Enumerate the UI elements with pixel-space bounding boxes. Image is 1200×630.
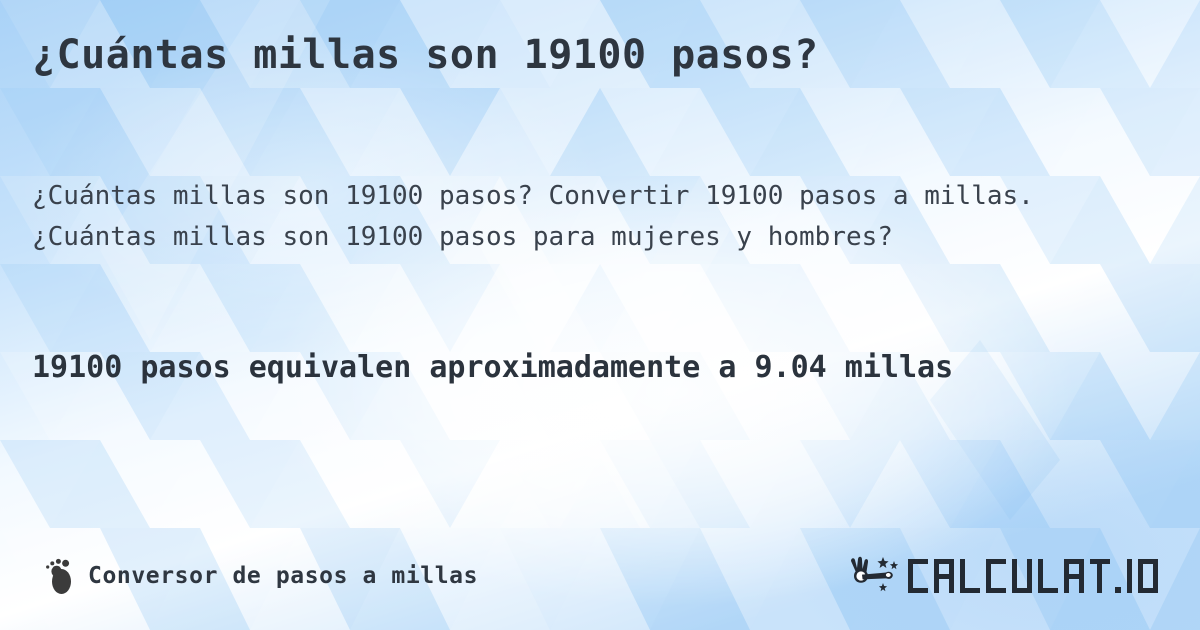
footprint-icon [44, 556, 74, 596]
brand-wordmark [906, 557, 1164, 595]
conversion-result: 19100 pasos equivalen aproximadamente a … [32, 345, 1107, 390]
intro-paragraph: ¿Cuántas millas son 19100 pasos? Convert… [32, 176, 1107, 258]
card-footer: Conversor de pasos a millas [0, 548, 1200, 604]
footer-label: Conversor de pasos a millas [88, 563, 478, 589]
footer-converter-link[interactable]: Conversor de pasos a millas [44, 548, 478, 604]
page-title: ¿Cuántas millas son 19100 pasos? [32, 32, 1152, 78]
brand-logo[interactable] [846, 548, 1164, 604]
share-card: ¿Cuántas millas son 19100 pasos? ¿Cuánta… [0, 0, 1200, 630]
card-content: ¿Cuántas millas son 19100 pasos? ¿Cuánta… [0, 0, 1200, 630]
magic-wand-hand-icon [846, 553, 902, 599]
